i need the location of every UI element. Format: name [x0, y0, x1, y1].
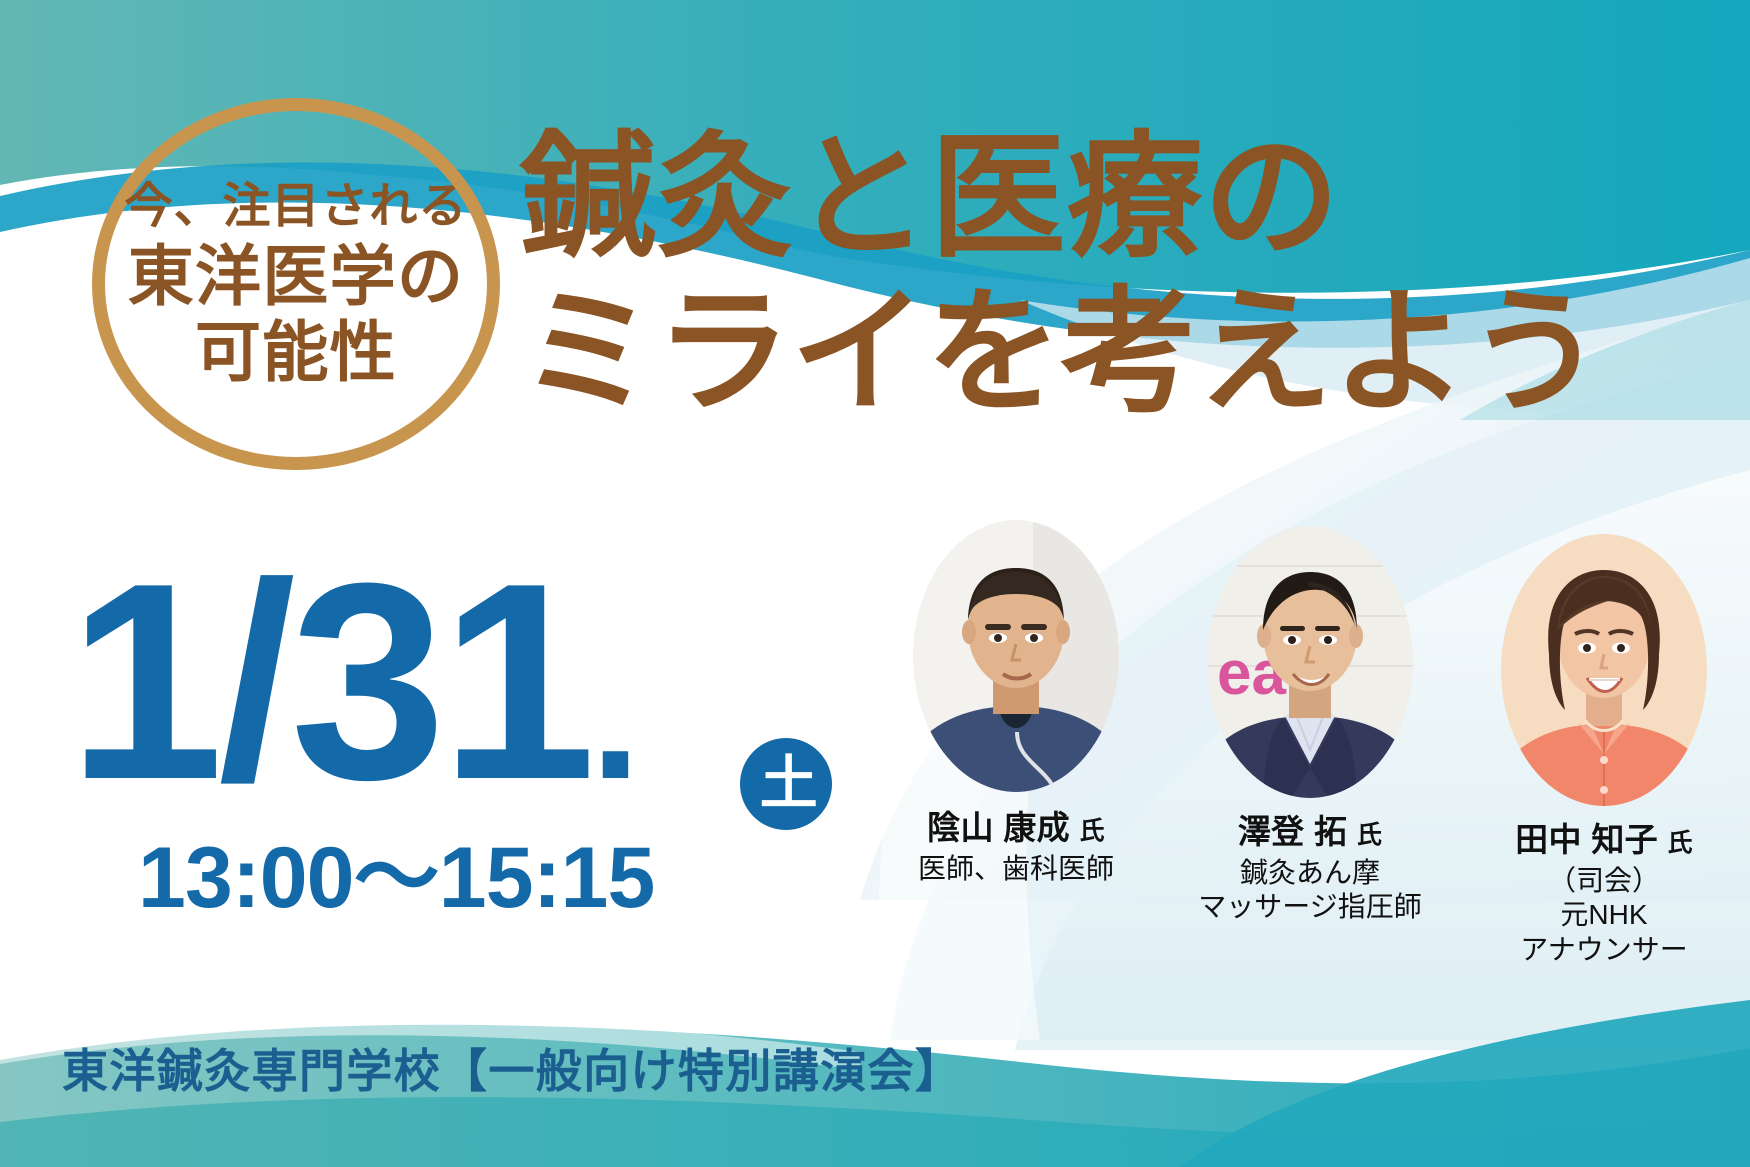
- badge-line-2: 東洋医学の: [128, 243, 465, 309]
- event-datetime-block: 1/31. 土 13:00〜15:15: [60, 545, 860, 921]
- speaker-name-suffix: 氏: [1667, 829, 1692, 857]
- speaker-name-suffix: 氏: [1079, 817, 1104, 845]
- speaker-role: 医師、歯科医師: [918, 852, 1114, 886]
- event-poster: 今、注目される 東洋医学の 可能性 鍼灸と医療の ミライを考えよう 1/31. …: [0, 0, 1750, 1167]
- speaker-role-line: 元NHK: [1520, 898, 1687, 932]
- event-date-period: .: [591, 629, 635, 805]
- event-time: 13:00〜15:15: [138, 835, 860, 921]
- highlight-badge: 今、注目される 東洋医学の 可能性: [92, 98, 500, 470]
- speaker-name-suffix: 氏: [1357, 821, 1382, 849]
- speaker-name-text: 澤登 拓: [1238, 813, 1348, 850]
- speaker-photo: [913, 520, 1119, 792]
- speaker-name-text: 田中 知子: [1515, 821, 1658, 858]
- badge-line-3: 可能性: [195, 319, 397, 385]
- event-date: 1/31. 土: [60, 545, 860, 819]
- speaker-role-line: 鍼灸あん摩: [1198, 856, 1421, 890]
- title-line-1: 鍼灸と医療の: [520, 128, 1730, 267]
- speaker-photo: [1501, 534, 1707, 806]
- speaker-card: ea: [1174, 520, 1446, 925]
- portrait-woman-coral-blouse-icon: [1501, 534, 1707, 806]
- title-line-2: ミライを考えよう: [520, 283, 1730, 422]
- speaker-role: （司会） 元NHK アナウンサー: [1520, 864, 1687, 966]
- speaker-list: 陰山 康成 氏 医師、歯科医師: [880, 520, 1740, 1160]
- badge-line-1: 今、注目される: [125, 183, 468, 231]
- speaker-name: 田中 知子 氏: [1515, 822, 1693, 858]
- speaker-name: 陰山 康成 氏: [927, 810, 1105, 846]
- portrait-man-navy-suit-icon: ea: [1207, 526, 1413, 798]
- day-of-week-badge: 土: [740, 738, 832, 830]
- speaker-role-line: 医師、歯科医師: [918, 852, 1114, 886]
- speaker-role-line: （司会）: [1520, 864, 1687, 898]
- speaker-photo: ea: [1207, 526, 1413, 798]
- portrait-man-navy-scrubs-icon: [913, 520, 1119, 792]
- speaker-role-line: マッサージ指圧師: [1198, 890, 1421, 924]
- speaker-role-line: アナウンサー: [1520, 933, 1687, 967]
- organizer-line: 東洋鍼灸専門学校【一般向け特別講演会】: [62, 1035, 962, 1101]
- event-date-text: 1/31: [68, 526, 591, 838]
- speaker-role: 鍼灸あん摩 マッサージ指圧師: [1198, 856, 1421, 924]
- speaker-name-text: 陰山 康成: [927, 809, 1070, 846]
- speaker-card: 田中 知子 氏 （司会） 元NHK アナウンサー: [1468, 520, 1740, 967]
- page-title: 鍼灸と医療の ミライを考えよう: [520, 128, 1730, 421]
- speaker-name: 澤登 拓 氏: [1238, 814, 1382, 850]
- speaker-card: 陰山 康成 氏 医師、歯科医師: [880, 520, 1152, 886]
